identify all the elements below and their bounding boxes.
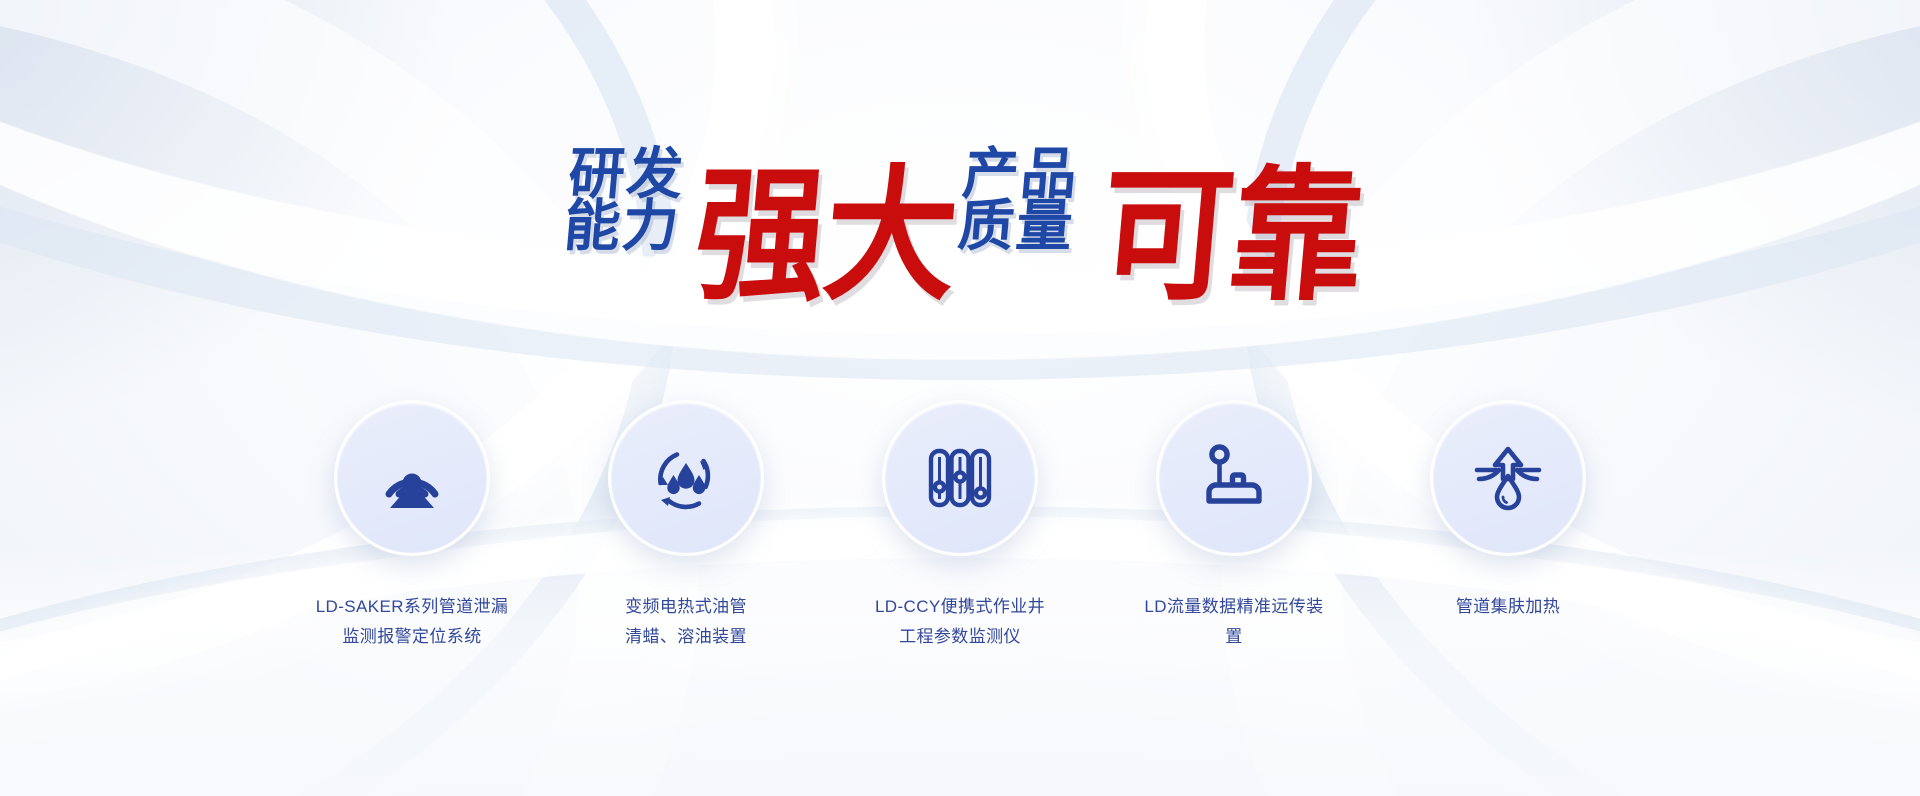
background-swoosh-left-2 <box>0 0 744 796</box>
feature-badge-3[interactable] <box>882 400 1038 556</box>
feature-label-5: 管道集肤加热 <box>1456 592 1560 622</box>
feature-label-2: 变频电热式油管 清蜡、溶油装置 <box>625 592 747 652</box>
headline-sub-1-line-1: 研发 <box>567 148 688 200</box>
headline-keyword-2: 可靠 <box>1085 119 1371 329</box>
feature-label-1: LD-SAKER系列管道泄漏 监测报警定位系统 <box>316 592 509 652</box>
feature-label-4: LD流量数据精准远传装置 <box>1136 592 1332 652</box>
headline-sub-1: 研发 能力 <box>562 138 688 251</box>
feature-badge-4[interactable] <box>1156 400 1312 556</box>
headline-keyword-1: 强大 <box>683 119 969 329</box>
upward-arrow-droplet-heat-icon <box>1469 439 1547 517</box>
feature-item-2[interactable]: 变频电热式油管 清蜡、溶油装置 <box>588 400 784 652</box>
feature-item-1[interactable]: LD-SAKER系列管道泄漏 监测报警定位系统 <box>314 400 510 652</box>
feature-item-3[interactable]: LD-CCY便携式作业井 工程参数监测仪 <box>862 400 1058 652</box>
feature-item-5[interactable]: 管道集肤加热 <box>1410 400 1606 622</box>
headline-sub-2: 产品 质量 <box>956 138 1082 251</box>
vertical-sliders-icon <box>921 439 999 517</box>
antenna-transmitter-icon <box>1195 439 1273 517</box>
background-swoosh-left-3 <box>0 0 748 796</box>
headline: 研发 能力 强大 产品 质量 可靠 <box>0 138 1920 329</box>
hero-banner: 研发 能力 强大 产品 质量 可靠 <box>0 0 1920 796</box>
headline-sub-2-line-1: 产品 <box>961 148 1082 200</box>
water-droplet-recycle-icon <box>647 439 725 517</box>
feature-label-3: LD-CCY便携式作业井 工程参数监测仪 <box>875 592 1045 652</box>
feature-badge-5[interactable] <box>1430 400 1586 556</box>
headline-sub-2-line-2: 质量 <box>956 200 1077 252</box>
leak-signal-sensor-icon <box>373 439 451 517</box>
headline-group-1: 研发 能力 强大 <box>567 138 951 329</box>
feature-badge-1[interactable] <box>334 400 490 556</box>
headline-group-2: 产品 质量 可靠 <box>951 138 1353 329</box>
feature-item-4[interactable]: LD流量数据精准远传装置 <box>1136 400 1332 652</box>
feature-badge-2[interactable] <box>608 400 764 556</box>
headline-sub-1-line-2: 能力 <box>562 200 683 252</box>
feature-list: LD-SAKER系列管道泄漏 监测报警定位系统 <box>0 400 1920 652</box>
